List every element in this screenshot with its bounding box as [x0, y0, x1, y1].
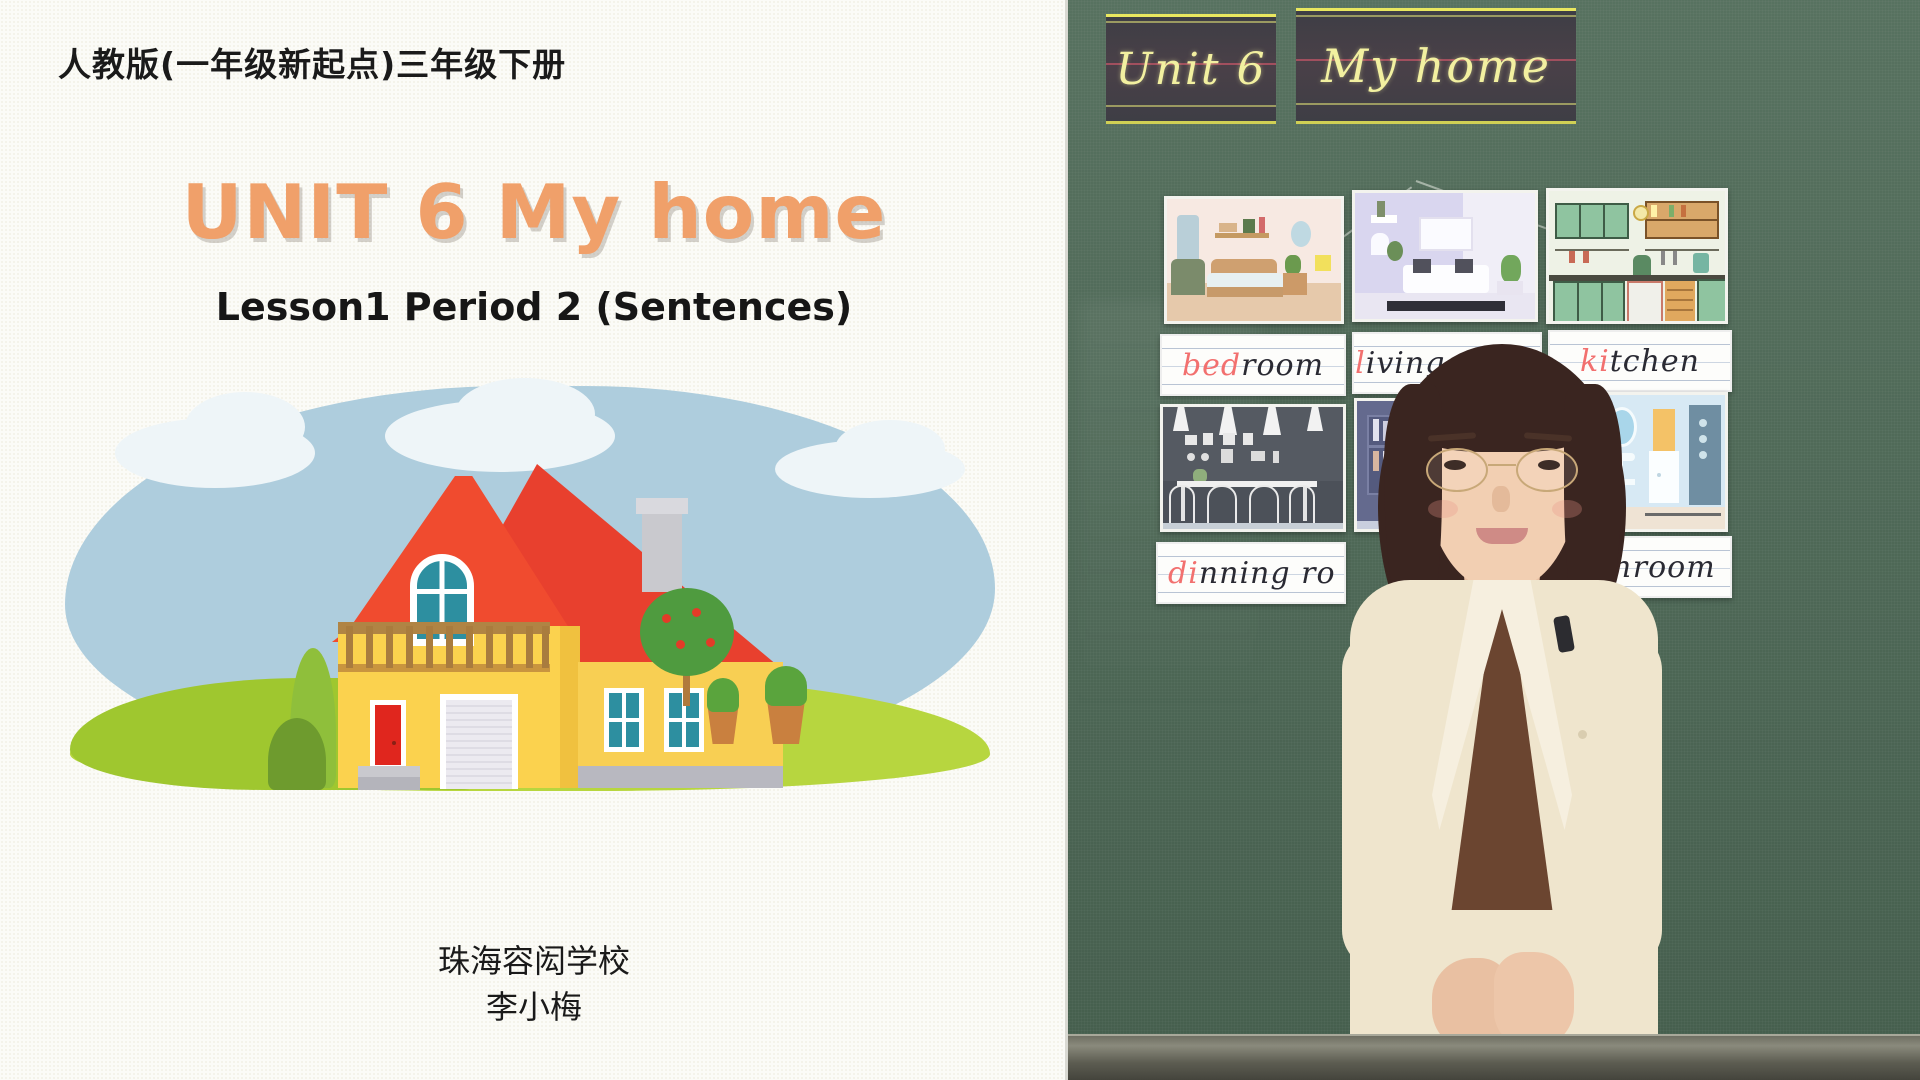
balcony-rail [446, 626, 453, 668]
balcony-rail [366, 626, 373, 668]
dining-room-picture [1160, 404, 1346, 532]
house-illustration [55, 378, 1015, 818]
arm-right [1576, 630, 1662, 970]
living-room-picture [1352, 190, 1538, 322]
cheek-right [1552, 500, 1582, 518]
chimney-icon [642, 504, 682, 592]
kitchen-picture [1546, 188, 1728, 324]
word-highlight: di [1168, 556, 1199, 591]
chalk-text-my-home: My home [1296, 11, 1576, 121]
nose [1492, 486, 1510, 512]
school-name: 珠海容闳学校 [0, 938, 1068, 984]
balcony-rail [466, 626, 473, 668]
potted-plant-icon [707, 678, 739, 712]
school-and-teacher: 珠海容闳学校 李小梅 [0, 938, 1068, 1031]
balcony-rail [526, 626, 533, 668]
teacher-name: 李小梅 [0, 984, 1068, 1030]
presentation-slide: 人教版(一年级新起点)三年级下册 UNIT 6 My home Lesson1 … [0, 0, 1068, 1080]
garage-door-icon [440, 694, 518, 789]
mouth [1476, 528, 1528, 544]
textbook-edition-label: 人教版(一年级新起点)三年级下册 [58, 38, 566, 86]
balcony-rail [386, 626, 393, 668]
foundation [578, 766, 783, 788]
cloud-icon [835, 420, 945, 478]
chalk-card-unit: Unit 6 [1106, 14, 1276, 124]
cheek-left [1428, 500, 1458, 518]
cloud-icon [185, 392, 305, 462]
word-rest: room [1241, 348, 1324, 383]
tree-icon [640, 588, 734, 676]
chalk-tray [1068, 1034, 1920, 1080]
door-step-lower [358, 777, 420, 790]
chalk-card-my-home: My home [1296, 8, 1576, 124]
wall-shadow [560, 626, 580, 788]
balcony-rail [406, 626, 413, 668]
balcony-rail [506, 626, 513, 668]
balcony-rail [346, 626, 353, 668]
bedroom-picture [1164, 196, 1344, 324]
teacher-presenter [1336, 330, 1666, 1080]
word-card-dinning-room: dinning ro [1156, 542, 1346, 604]
front-door-icon [370, 700, 406, 770]
word-card-bedroom: bedroom [1160, 334, 1346, 396]
vest-button [1578, 730, 1587, 739]
word-rest: nning ro [1199, 556, 1336, 591]
lesson-subtitle: Lesson1 Period 2 (Sentences) [0, 285, 1068, 329]
screen: 人教版(一年级新起点)三年级下册 UNIT 6 My home Lesson1 … [0, 0, 1920, 1080]
word-highlight: bed [1182, 348, 1241, 383]
page-title: UNIT 6 My home [0, 168, 1068, 256]
chalk-text-unit: Unit 6 [1106, 17, 1276, 121]
balcony-rail [426, 626, 433, 668]
balcony-rail [542, 626, 549, 668]
classroom-video-panel: Unit 6 My home [1068, 0, 1920, 1080]
balcony-rail [486, 626, 493, 668]
chimney-cap [636, 498, 688, 514]
potted-plant-icon [765, 666, 807, 706]
window-icon [604, 688, 644, 752]
cloud-icon [455, 378, 595, 450]
arm-left [1342, 630, 1428, 970]
